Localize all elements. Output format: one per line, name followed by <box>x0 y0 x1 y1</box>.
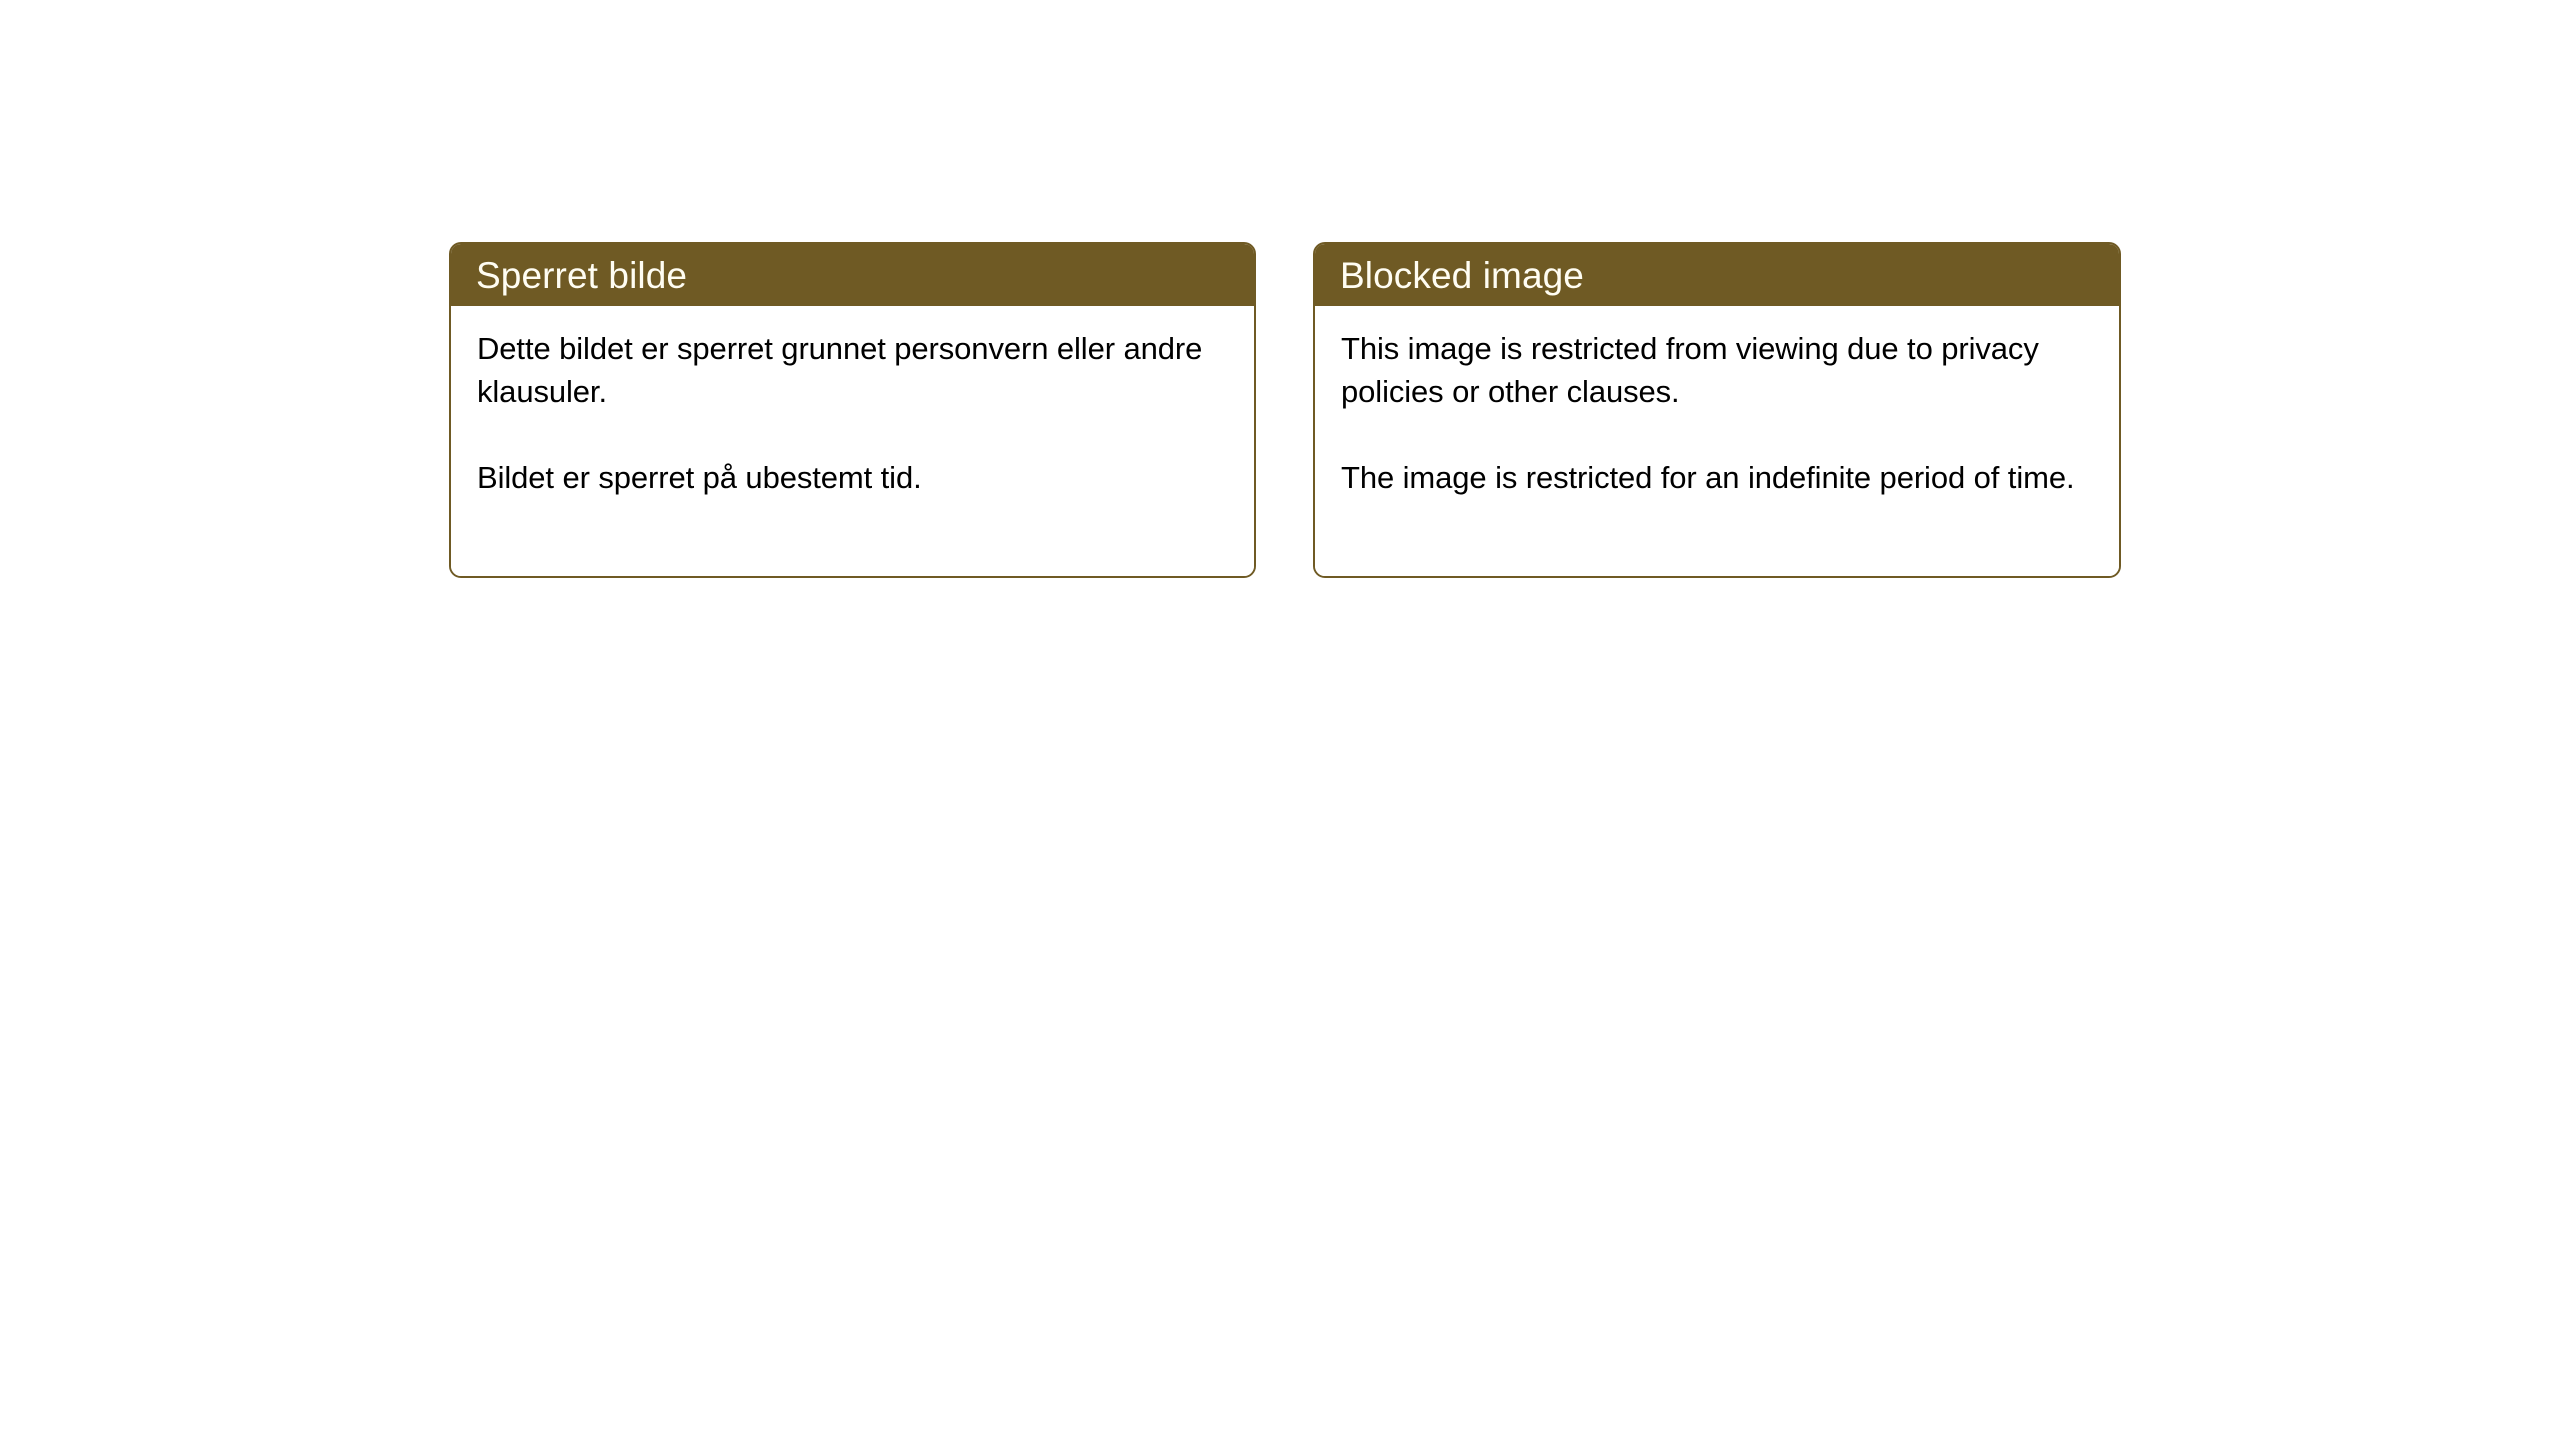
blocked-image-card-en: Blocked image This image is restricted f… <box>1313 242 2121 578</box>
blocked-image-notices: Sperret bilde Dette bildet er sperret gr… <box>449 242 2121 578</box>
card-header-no: Sperret bilde <box>451 244 1254 306</box>
card-title-no: Sperret bilde <box>476 257 687 294</box>
card-paragraph-duration-no: Bildet er sperret på ubestemt tid. <box>477 456 1228 499</box>
card-body-no: Dette bildet er sperret grunnet personve… <box>451 306 1254 576</box>
card-paragraph-duration-en: The image is restricted for an indefinit… <box>1341 456 2093 499</box>
card-body-en: This image is restricted from viewing du… <box>1315 306 2119 576</box>
page-root: { "page": { "background_color": "#ffffff… <box>0 0 2560 1440</box>
blocked-image-card-no: Sperret bilde Dette bildet er sperret gr… <box>449 242 1256 578</box>
card-paragraph-reason-en: This image is restricted from viewing du… <box>1341 327 2093 413</box>
card-header-en: Blocked image <box>1315 244 2119 306</box>
card-paragraph-reason-no: Dette bildet er sperret grunnet personve… <box>477 327 1228 413</box>
card-title-en: Blocked image <box>1340 257 1584 294</box>
